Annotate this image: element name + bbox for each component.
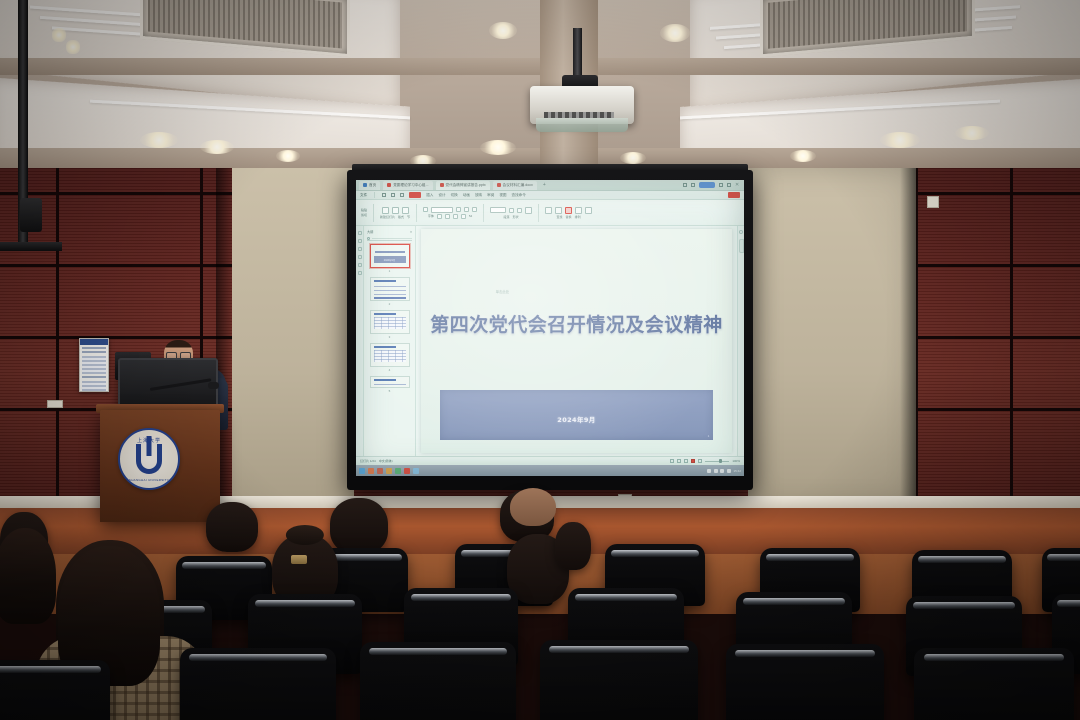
thumb3-table [374,317,406,329]
taskbar-app-2-icon[interactable] [377,468,383,474]
notes-toggle-icon[interactable] [698,459,702,463]
taskbar-clock[interactable]: 15:42 [733,469,741,473]
projection-screen-frame: 首页 党委理论学习中心组... 党代会精神宣讲报告.pptx 会议材料汇编.do… [347,170,753,490]
audience-head-back-bald [510,488,556,526]
picture-icon[interactable] [585,207,592,214]
tray-volume-icon[interactable] [714,469,718,473]
audience-head-back-1 [330,498,388,554]
layout-icon[interactable] [392,207,399,214]
emblem-u-glyph [136,444,162,474]
ribbon-paragraph-label[interactable]: 段落 [504,215,510,219]
highlight-icon[interactable] [565,207,572,214]
menu-transition[interactable]: 切换 [451,193,458,198]
new-slide-icon[interactable] [382,207,389,214]
home-icon [363,183,367,187]
wall-sign-plate [47,400,63,408]
search-input[interactable] [372,238,412,239]
start-icon[interactable] [359,468,365,474]
tab-home-label: 首页 [369,183,376,188]
thumbnail-1-number: 1 [389,269,391,273]
ribbon-fontsize-value[interactable]: 54 [469,214,472,218]
thumb2-line-3 [374,294,406,295]
menu-slideshow[interactable]: 放映 [475,193,482,198]
sorter-view-icon[interactable] [677,459,681,463]
textbox-icon[interactable] [525,207,532,214]
clear-format-icon[interactable] [472,207,477,212]
undo-icon[interactable] [391,193,395,197]
thumbnail-2[interactable] [370,277,410,301]
beige-wall-right [748,168,916,508]
outline-view-icon[interactable] [358,239,362,243]
ribbon-replace-label[interactable]: 替换 [566,215,572,219]
slide-thumbnail-panel[interactable]: 大纲 × 2024年9月 [364,226,416,456]
tab-presentation-label: 党代会精神宣讲报告.pptx [446,183,486,188]
wps-doc-icon [387,183,391,187]
audience-head-back-3 [206,502,258,552]
emblem-english-name: SHANGHAI UNIVERSITY [120,478,178,482]
line-spacing-field[interactable] [490,207,506,213]
minimize-icon[interactable] [719,183,723,187]
thumb2-line-2 [374,290,406,291]
strikethrough-icon[interactable] [461,214,466,219]
thumbnail-item-5[interactable]: 5 [366,376,413,393]
ribbon-shapes-label[interactable]: 形状 [513,215,519,219]
notes-view-icon[interactable] [358,247,362,251]
zoom-slider[interactable] [705,461,729,462]
exit-marker-plate [927,196,939,208]
thumbnail-3-number: 3 [389,335,391,339]
thumbnail-5-number: 5 [389,389,391,393]
thumbnail-item-1[interactable]: 2024年9月 1 [366,244,413,273]
ribbon-group-clipboard: 粘贴 剪切 [361,208,367,217]
thumbnail-item-3[interactable]: 3 [366,310,413,339]
tray-battery-icon[interactable] [727,469,731,473]
design-ideas-icon[interactable] [739,230,743,234]
thumb5-line-1 [374,384,406,385]
ribbon-group-slides: 新建幻灯片 版式 节 [380,207,410,219]
zoom-slider-knob[interactable] [719,459,722,463]
sections-icon[interactable] [358,255,362,259]
thumbnail-1[interactable]: 2024年9月 [370,244,410,268]
redo-icon[interactable] [400,193,404,197]
wps-ppt-icon [440,183,444,187]
hair-clip-accessory [291,555,307,564]
wps-tab-bar: 首页 党委理论学习中心组... 党代会精神宣讲报告.pptx 会议材料汇编.do… [356,180,744,191]
slide-date-text[interactable]: 2024年9月 [440,414,714,424]
taskbar-app-3-icon[interactable] [386,468,392,474]
thumb2-footer [374,297,406,299]
thumb5-header [374,379,397,381]
thumbnail-2-number: 2 [389,302,391,306]
thumbnail-4[interactable] [370,343,410,367]
status-zoom-value[interactable]: 100% [732,459,740,463]
av-speaker-box [20,198,42,232]
tab-document-2-label: 会议材料汇编.docx [503,183,533,188]
wps-ribbon: 粘贴 剪切 新建幻灯片 版式 节 [356,200,744,226]
menu-design[interactable]: 设计 [438,193,445,198]
slideshow-icon[interactable] [691,459,695,463]
panel-collapse-icon[interactable]: × [410,230,412,234]
ribbon-section-label[interactable]: 节 [407,215,410,219]
left-tool-rail [356,226,364,456]
seat-front-6 [914,648,1074,720]
search-icon [367,237,370,240]
comments-icon[interactable] [358,263,362,267]
projector-lens [536,118,628,132]
normal-view-icon[interactable] [670,459,674,463]
ribbon-newslide-label[interactable]: 新建幻灯片 [380,215,395,219]
menu-tab-start[interactable] [409,192,421,198]
slide-title-text[interactable]: 第四次党代会召开情况及会议精神 [421,310,732,337]
conference-hall-photo: 首页 党委理论学习中心组... 党代会精神宣讲报告.pptx 会议材料汇编.do… [0,0,1080,720]
menu-animation[interactable]: 动画 [463,193,470,198]
menu-file[interactable]: 文件 [360,193,367,198]
thumb-title-bar [375,251,405,253]
tab-document-2[interactable]: 会议材料汇编.docx [493,181,537,190]
seat-front-4 [540,640,698,720]
thumbnail-5[interactable] [370,376,410,388]
thumbnail-item-4[interactable]: 4 [366,343,413,372]
wps-doc-icon-2 [497,183,501,187]
slide-search[interactable] [367,236,412,241]
new-tab-button[interactable]: + [540,182,549,188]
ribbon-layout-label[interactable]: 版式 [398,215,404,219]
slide-panel-title: 大纲 [367,229,373,234]
ribbon-group-paragraph: 段落 形状 [490,207,532,219]
tray-ime-icon[interactable] [720,469,724,473]
seat-front-5 [726,644,884,720]
tab-document-1-label: 党委理论学习中心组... [393,183,428,188]
thumbnail-3[interactable] [370,310,410,334]
arrange-icon[interactable] [575,207,582,214]
wps-body: 大纲 × 2024年9月 [356,226,744,456]
windows-taskbar: 15:42 [356,465,744,476]
italic-icon[interactable] [445,214,450,219]
projection-screen: 首页 党委理论学习中心组... 党代会精神宣讲报告.pptx 会议材料汇编.do… [356,180,744,476]
slide-footer-band[interactable]: 2024年9月 1 [440,390,714,439]
taskbar-wps-icon[interactable] [404,468,410,474]
slide-panel-header: 大纲 × [366,228,413,236]
slides-view-icon[interactable] [358,231,362,235]
thumb3-header [374,313,397,315]
tab-document-1[interactable]: 党委理论学习中心组... [383,181,432,190]
ribbon-cut-label[interactable]: 剪切 [361,213,367,217]
tab-presentation-active[interactable]: 党代会精神宣讲报告.pptx [436,181,490,190]
thumb-date-text: 2024年9月 [384,258,395,262]
ribbon-find-label[interactable]: 查找 [557,215,563,219]
taskbar-app-1-icon[interactable] [368,468,374,474]
menu-insert[interactable]: 插入 [426,193,433,198]
seat-front-1 [0,660,110,720]
beige-wall-left [232,168,354,508]
align-center-icon[interactable] [517,208,522,213]
maximize-icon[interactable] [727,183,731,187]
thumb2-header [374,280,397,282]
close-icon[interactable]: ✕ [735,183,739,187]
slide-page-number: 1 [708,434,710,438]
seat-front-3 [360,642,516,720]
reading-view-icon[interactable] [684,459,688,463]
thumb4-header [374,346,397,348]
reset-icon[interactable] [402,207,409,214]
tab-home[interactable]: 首页 [359,181,380,190]
account-icon[interactable] [683,183,687,187]
taskbar-app-4-icon[interactable] [395,468,401,474]
wps-menu-bar: 文件 插入 设计 切换 动画 放映 审阅 视图 查找命令 [356,191,744,200]
bold-icon[interactable] [437,214,442,219]
seat-front-2 [180,648,336,720]
status-slide-count: 幻灯片 1/24 [360,459,376,463]
settings-icon[interactable] [691,183,695,187]
underline-icon[interactable] [453,214,458,219]
wall-notice-poster [79,338,109,392]
audience-hair-front-left [0,528,56,624]
right-tool-rail [737,226,744,456]
wps-office-window: 首页 党委理论学习中心组... 党代会精神宣讲报告.pptx 会议材料汇编.do… [356,180,744,476]
save-icon[interactable] [382,193,386,197]
status-language[interactable]: 中文(简体) [379,459,393,463]
font-name-field[interactable] [431,207,453,213]
command-search[interactable]: 查找命令 [512,193,526,198]
current-slide[interactable]: 单击此处 第四次党代会召开情况及会议精神 2024年9月 1 [421,229,732,453]
slide-canvas-area[interactable]: 单击此处 第四次党代会召开情况及会议精神 2024年9月 1 [416,226,737,456]
window-controls: ✕ [683,182,741,188]
podium-microphone-head [208,382,219,389]
select-icon[interactable] [555,207,562,214]
ribbon-paste-label[interactable]: 粘贴 [361,208,367,212]
menu-review[interactable]: 审阅 [487,193,494,198]
university-emblem: 上海大学 SHANGHAI UNIVERSITY [118,428,180,490]
slide-placeholder-hint: 单击此处 [496,289,510,294]
thumbnail-4-number: 4 [389,368,391,372]
thumbnail-item-2[interactable]: 2 [366,277,413,306]
find-icon[interactable] [545,207,552,214]
ribbon-font-label[interactable]: 字体 [428,214,434,218]
tray-network-icon[interactable] [707,469,711,473]
menu-view[interactable]: 视图 [499,193,506,198]
right-panel-handle[interactable] [739,239,744,253]
ceiling [0,0,1080,172]
av-stand-arm [0,242,62,251]
thumb4-table [374,350,406,362]
font-grow-icon[interactable] [456,207,461,212]
font-shrink-icon[interactable] [464,207,469,212]
wps-status-bar: 幻灯片 1/24 中文(简体) 100% [356,456,744,465]
taskbar-app-5-icon[interactable] [413,468,419,474]
font-color-icon[interactable] [423,207,428,212]
ribbon-arrange-label[interactable]: 排列 [575,215,581,219]
audience-head-mid-right [555,522,591,570]
present-button[interactable] [728,192,740,198]
ribbon-group-editing: 查找 替换 排列 [545,207,592,219]
system-tray: 15:42 [707,469,741,473]
ribbon-group-font: 字体 54 [423,207,477,219]
cloud-sync-badge[interactable] [699,182,715,188]
thumb2-line-1 [374,286,406,287]
align-left-icon[interactable] [509,208,514,213]
trash-icon[interactable] [358,271,362,275]
